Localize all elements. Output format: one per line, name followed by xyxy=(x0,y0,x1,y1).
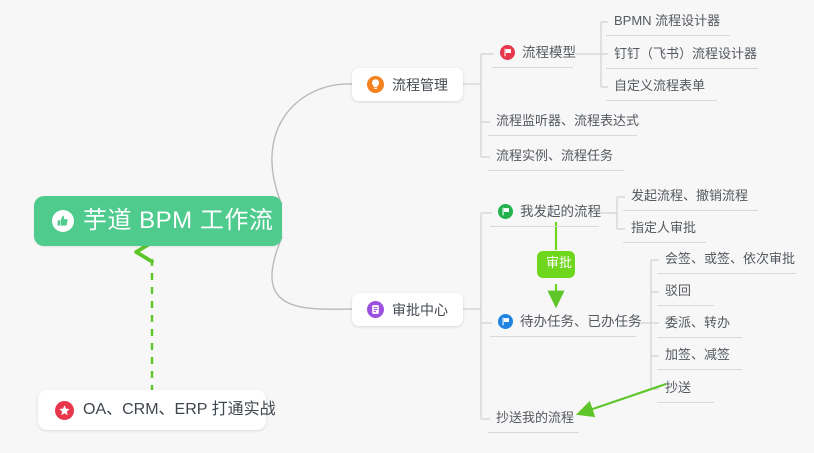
leaf-reject-label: 驳回 xyxy=(665,284,691,299)
leaf-reject[interactable]: 驳回 xyxy=(657,280,714,306)
branch-approval-center[interactable]: 审批中心 xyxy=(352,293,463,326)
leaf-dingtalk-designer-label: 钉钉（飞书）流程设计器 xyxy=(614,47,757,62)
leaf-dingtalk-designer[interactable]: 钉钉（飞书）流程设计器 xyxy=(606,43,758,69)
node-process-instance-label: 流程实例、流程任务 xyxy=(496,149,613,164)
flag-icon xyxy=(500,45,515,60)
node-cc-to-me[interactable]: 抄送我的流程 xyxy=(488,407,579,433)
root-branch-curves xyxy=(272,84,352,309)
node-process-instance[interactable]: 流程实例、流程任务 xyxy=(488,145,624,171)
my-initiated-connectors xyxy=(599,197,625,229)
leaf-cc[interactable]: 抄送 xyxy=(657,377,714,403)
node-process-listener[interactable]: 流程监听器、流程表达式 xyxy=(488,110,637,136)
integration-card[interactable]: OA、CRM、ERP 打通实战 xyxy=(38,390,266,430)
branch-process-management-label: 流程管理 xyxy=(392,78,448,92)
cc-pointer-arrow xyxy=(578,384,666,414)
lightbulb-icon xyxy=(367,76,384,93)
node-cc-to-me-label: 抄送我的流程 xyxy=(496,411,574,426)
node-process-model[interactable]: 流程模型 xyxy=(492,41,573,68)
leaf-assignee-approval[interactable]: 指定人审批 xyxy=(623,217,706,243)
leaf-start-cancel-process[interactable]: 发起流程、撤销流程 xyxy=(623,185,758,211)
leaf-cc-label: 抄送 xyxy=(665,381,691,396)
branch-process-management[interactable]: 流程管理 xyxy=(352,68,463,101)
leaf-assignee-approval-label: 指定人审批 xyxy=(631,221,696,236)
approval-step-pill-label: 审批 xyxy=(546,255,572,270)
approval-center-connectors xyxy=(463,213,492,419)
leaf-bpmn-designer-label: BPMN 流程设计器 xyxy=(614,14,720,29)
leaf-bpmn-designer[interactable]: BPMN 流程设计器 xyxy=(606,10,730,36)
node-my-initiated-label: 我发起的流程 xyxy=(520,204,601,220)
root-node-label: 芋道 BPM 工作流 xyxy=(83,209,273,233)
node-my-initiated[interactable]: 我发起的流程 xyxy=(490,200,599,227)
node-todo-done-label: 待办任务、已办任务 xyxy=(520,314,642,330)
approval-step-pill: 审批 xyxy=(537,251,575,278)
leaf-multi-approval-label: 会签、或签、依次审批 xyxy=(665,252,795,267)
node-process-model-label: 流程模型 xyxy=(522,45,576,61)
leaf-custom-form-label: 自定义流程表单 xyxy=(614,79,705,94)
thumbs-up-icon xyxy=(52,210,74,232)
node-todo-done[interactable]: 待办任务、已办任务 xyxy=(490,310,636,337)
process-model-connectors xyxy=(573,22,608,87)
leaf-custom-form[interactable]: 自定义流程表单 xyxy=(606,75,717,101)
branch-approval-center-label: 审批中心 xyxy=(392,303,448,317)
leaf-delegate-transfer-label: 委派、转办 xyxy=(665,316,730,331)
integration-card-label: OA、CRM、ERP 打通实战 xyxy=(83,402,276,418)
flag-icon xyxy=(498,204,513,219)
leaf-delegate-transfer[interactable]: 委派、转办 xyxy=(657,312,742,338)
process-management-connectors xyxy=(463,54,494,157)
node-process-listener-label: 流程监听器、流程表达式 xyxy=(496,114,639,129)
leaf-multi-approval[interactable]: 会签、或签、依次审批 xyxy=(657,248,796,274)
leaf-add-remove-sign-label: 加签、减签 xyxy=(665,348,730,363)
mindmap-canvas: 芋道 BPM 工作流 流程管理 流程模型 BPMN 流程设计器 钉钉（飞书）流程… xyxy=(0,0,814,453)
leaf-add-remove-sign[interactable]: 加签、减签 xyxy=(657,344,742,370)
leaf-start-cancel-process-label: 发起流程、撤销流程 xyxy=(631,189,748,204)
document-icon xyxy=(367,301,384,318)
root-node[interactable]: 芋道 BPM 工作流 xyxy=(34,196,282,246)
flag-icon xyxy=(498,314,513,329)
star-icon xyxy=(55,401,74,420)
